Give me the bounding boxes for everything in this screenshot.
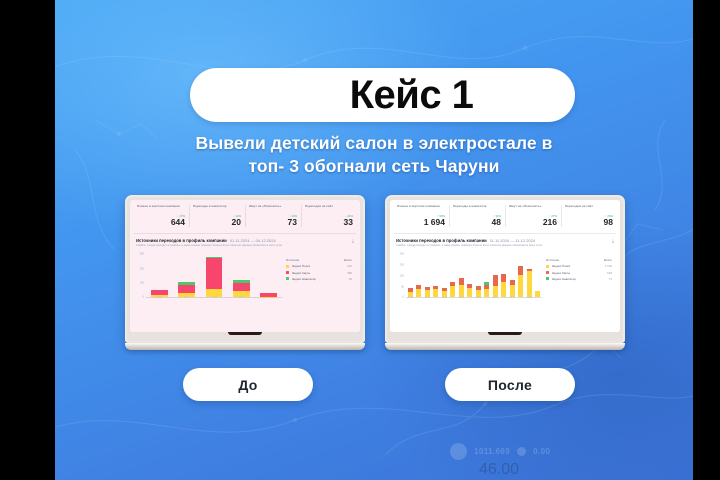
chart-bar[interactable] (466, 254, 475, 297)
chart-bar[interactable] (491, 254, 500, 297)
slide-canvas: 1011.669 0.00 46.00 Кейс 1 Вывели детски… (0, 0, 720, 480)
legend-swatch (286, 271, 289, 274)
chart-legend-after: Источник Всего Яндекс Поиск1 102Яндекс К… (542, 254, 612, 306)
laptop-after-lid: Показы в карточке компании ↑ 53% 1 694 П… (385, 195, 625, 343)
y-axis-after: 200150100500 (398, 254, 405, 297)
y-tick: 200 (400, 253, 404, 256)
chart-bar[interactable] (415, 254, 424, 297)
y-axis-before: 3002001000 (138, 254, 145, 297)
chart-bar[interactable] (534, 254, 543, 297)
chart-bar[interactable] (432, 254, 441, 297)
chart-date-range: 11.11.2024 — 11.12.2024 (490, 238, 535, 243)
laptop-before-screen: Показы в карточке компании ↓ 17% 644 Пер… (130, 200, 360, 332)
kpi-label: Показы в карточке компании (137, 205, 185, 213)
case-title-pill: Кейс 1 (190, 68, 575, 122)
legend-header-total: Всего (344, 258, 352, 262)
chart-header: Источники переходов в профиль компании 0… (136, 238, 354, 243)
chart-title: Источники переходов в профиль компании (136, 238, 227, 243)
chart-bar[interactable] (228, 254, 255, 297)
chart-bar-segment (501, 274, 506, 281)
x-tick (466, 297, 475, 306)
chart-legend-before: Источник Всего Яндекс Поиск212Яндекс Кар… (282, 254, 352, 306)
laptop-after-screen: Показы в карточке компании ↑ 53% 1 694 П… (390, 200, 620, 332)
x-tick (534, 297, 543, 306)
kpi-label: Показы в карточке компании (397, 205, 445, 213)
laptop-before-base (125, 343, 365, 350)
chart-bars-before (146, 254, 282, 297)
chart-bar[interactable] (146, 254, 173, 297)
x-tick: 11.11 (406, 297, 415, 306)
legend-header-source: Источник (286, 258, 299, 262)
chart-section-before: Источники переходов в профиль компании 0… (134, 233, 356, 307)
kpi-value: 1 694 (397, 218, 445, 227)
kpi-label: Переходов на сайт (305, 205, 353, 213)
laptop-before: Показы в карточке компании ↓ 17% 644 Пер… (125, 195, 365, 350)
chart-bar[interactable] (449, 254, 458, 297)
chart-bar-segment (527, 271, 532, 297)
chart-bar-segment (459, 285, 464, 298)
chart-bar[interactable] (440, 254, 449, 297)
subtitle-line-2: топ- 3 обогнали сеть Чаруни (95, 155, 653, 178)
legend-swatch (546, 277, 549, 280)
chart-area-before: 3002001000 01.1108.1115.1122.1129.11 Ист… (136, 254, 354, 306)
legend-series-total: 386 (347, 271, 352, 275)
chart-bar-segment (206, 258, 223, 289)
legend-row[interactable]: Яндекс Навигатор46 (286, 277, 352, 281)
x-tick: 01.12 (491, 297, 500, 306)
kpi-label: Жмут на «Позвонить» (509, 205, 557, 213)
chart-bar-segment (493, 286, 498, 297)
kpi-value: 33 (305, 218, 353, 227)
chart-bar-segment (416, 289, 421, 298)
watermark-label-3: 46.00 (479, 461, 519, 479)
letterbox-right (693, 0, 720, 480)
chart-bar-segment (433, 289, 438, 297)
chart-bar[interactable] (508, 254, 517, 297)
after-button-label: После (488, 377, 532, 393)
legend-row[interactable]: Яндекс Поиск212 (286, 264, 352, 268)
legend-series-name: Яндекс Карты (552, 271, 571, 275)
x-tick: 27.11 (474, 297, 483, 306)
y-tick: 300 (140, 253, 144, 256)
download-icon[interactable]: ⤓ (352, 238, 354, 243)
watermark-dot-small (517, 447, 526, 456)
laptop-after: Показы в карточке компании ↑ 53% 1 694 П… (385, 195, 625, 350)
before-button[interactable]: До (183, 368, 313, 401)
x-tick: 23.11 (457, 297, 466, 306)
chart-bar-segment (233, 283, 250, 292)
chart-bars-after (406, 254, 542, 297)
y-tick: 50 (401, 285, 404, 288)
y-tick: 100 (400, 274, 404, 277)
dashboard-before: Показы в карточке компании ↓ 17% 644 Пер… (130, 200, 360, 332)
chart-area-after: 200150100500 11.1115.1119.1123.1127.1101… (396, 254, 614, 306)
legend-row[interactable]: Яндекс Карты518 (546, 271, 612, 275)
legend-series-name: Яндекс Навигатор (552, 277, 576, 281)
chart-bar[interactable] (474, 254, 483, 297)
kpi-card[interactable]: Переходов на сайт ↓ 21% 33 (301, 205, 356, 227)
kpi-value: 20 (193, 218, 241, 227)
kpi-card[interactable]: Жмут на «Позвонить» ↓ 44% 73 (245, 205, 300, 227)
slide-background: 1011.669 0.00 46.00 Кейс 1 Вывели детски… (55, 0, 693, 480)
chart-bar[interactable] (173, 254, 200, 297)
kpi-value: 73 (249, 218, 297, 227)
kpi-card[interactable]: Переходы в навигатор ↓ 12% 20 (189, 205, 244, 227)
chart-bar-segment (178, 285, 195, 292)
chart-bar-segment (425, 290, 430, 298)
x-tick: 15.11 (200, 297, 227, 306)
kpi-label: Жмут на «Позвонить» (249, 205, 297, 213)
legend-header: Источник Всего (546, 258, 612, 262)
chart-bar-segment (518, 266, 523, 275)
legend-row[interactable]: Яндекс Поиск1 102 (546, 264, 612, 268)
page-title: Кейс 1 (292, 75, 474, 115)
kpi-row-before: Показы в карточке компании ↓ 17% 644 Пер… (130, 200, 360, 231)
y-tick: 0 (403, 296, 404, 299)
chart-bar-segment (484, 289, 489, 298)
legend-series-name: Яндекс Навигатор (292, 277, 316, 281)
legend-header: Источник Всего (286, 258, 352, 262)
x-tick (517, 297, 526, 306)
chart-bar-segment (510, 285, 515, 298)
letterbox-left (0, 0, 55, 480)
kpi-value: 98 (565, 218, 613, 227)
legend-series-name: Яндекс Поиск (292, 264, 311, 268)
chart-bar-segment (206, 289, 223, 298)
chart-bar-segment (467, 288, 472, 298)
legend-series-total: 74 (609, 277, 612, 281)
download-icon[interactable]: ⤓ (612, 238, 614, 243)
laptop-after-base (385, 343, 625, 350)
legend-series-total: 212 (347, 264, 352, 268)
subtitle-line-1: Вывели детский салон в электростале в (195, 133, 552, 153)
chart-section-after: Источники переходов в профиль компании 1… (394, 233, 616, 307)
legend-rows-after: Яндекс Поиск1 102Яндекс Карты518Яндекс Н… (546, 264, 612, 280)
legend-swatch (546, 271, 549, 274)
kpi-value: 216 (509, 218, 557, 227)
kpi-label: Переходов на сайт (565, 205, 613, 213)
chart-header: Источники переходов в профиль компании 1… (396, 238, 614, 243)
y-tick: 200 (140, 267, 144, 270)
before-button-label: До (238, 377, 257, 393)
chart-plot: 200150100500 11.1115.1119.1123.1127.1101… (398, 254, 542, 306)
chart-bar-segment (518, 275, 523, 298)
chart-title: Источники переходов в профиль компании (396, 238, 487, 243)
legend-rows-before: Яндекс Поиск212Яндекс Карты386Яндекс Нав… (286, 264, 352, 280)
y-tick: 0 (143, 296, 144, 299)
legend-series-total: 46 (349, 277, 352, 281)
x-tick: 09.12 (525, 297, 534, 306)
chart-bar[interactable] (500, 254, 509, 297)
x-tick (483, 297, 492, 306)
chart-bar[interactable] (200, 254, 227, 297)
legend-header-source: Источник (546, 258, 559, 262)
legend-row[interactable]: Яндекс Карты386 (286, 271, 352, 275)
x-axis-after: 11.1115.1119.1123.1127.1101.1205.1209.12 (406, 297, 542, 306)
y-tick: 150 (400, 264, 404, 267)
chart-description: Узнайте, откуда приходят в профиль, и ка… (396, 244, 614, 251)
chart-bar-segment (493, 275, 498, 286)
subtitle: Вывели детский салон в электростале в то… (95, 132, 653, 178)
legend-series-total: 1 102 (605, 264, 612, 268)
x-tick: 19.11 (440, 297, 449, 306)
x-tick: 01.11 (146, 297, 173, 306)
x-tick (500, 297, 509, 306)
laptop-after-notch (488, 332, 522, 335)
chart-bar[interactable] (525, 254, 534, 297)
kpi-label: Переходы в навигатор (453, 205, 501, 213)
kpi-label: Переходы в навигатор (193, 205, 241, 213)
laptop-before-notch (228, 332, 262, 335)
legend-series-total: 518 (607, 271, 612, 275)
chart-bar-segment (501, 282, 506, 298)
kpi-card[interactable]: Жмут на «Позвонить» ↑ 27% 216 (505, 205, 560, 227)
kpi-value: 644 (137, 218, 185, 227)
x-tick (449, 297, 458, 306)
chart-date-range: 01.11.2024 — 04.12.2024 (230, 238, 276, 243)
x-tick: 22.11 (228, 297, 255, 306)
watermark-primary: 1011.669 0.00 (450, 443, 550, 460)
chart-bar[interactable] (255, 254, 282, 297)
x-tick: 05.12 (508, 297, 517, 306)
chart-bar[interactable] (517, 254, 526, 297)
laptop-before-lid: Показы в карточке компании ↓ 17% 644 Пер… (125, 195, 365, 343)
chart-plot: 3002001000 01.1108.1115.1122.1129.11 (138, 254, 282, 306)
chart-bar[interactable] (483, 254, 492, 297)
kpi-card[interactable]: Переходов на сайт ↑ 26% 98 (561, 205, 616, 227)
kpi-row-after: Показы в карточке компании ↑ 53% 1 694 П… (390, 200, 620, 231)
x-tick: 15.11 (423, 297, 432, 306)
chart-bar-segment (476, 290, 481, 298)
legend-swatch (286, 265, 289, 268)
legend-swatch (286, 277, 289, 280)
x-axis-before: 01.1108.1115.1122.1129.11 (146, 297, 282, 306)
chart-bar[interactable] (423, 254, 432, 297)
chart-bar[interactable] (457, 254, 466, 297)
watermark-label-1: 1011.669 (474, 447, 510, 456)
chart-bar[interactable] (406, 254, 415, 297)
kpi-card[interactable]: Показы в карточке компании ↑ 53% 1 694 (394, 205, 448, 227)
x-tick: 29.11 (255, 297, 282, 306)
watermark-dot (450, 443, 467, 460)
legend-swatch (546, 265, 549, 268)
x-tick (432, 297, 441, 306)
legend-row[interactable]: Яндекс Навигатор74 (546, 277, 612, 281)
chart-description: Узнайте, откуда приходят в профиль, и ка… (136, 244, 354, 251)
watermark-label-2: 0.00 (533, 447, 550, 456)
watermark-secondary: 46.00 (473, 461, 519, 479)
legend-header-total: Всего (604, 258, 612, 262)
kpi-card[interactable]: Показы в карточке компании ↓ 17% 644 (134, 205, 188, 227)
legend-series-name: Яндекс Поиск (552, 264, 571, 268)
after-button[interactable]: После (445, 368, 575, 401)
x-tick: 08.11 (173, 297, 200, 306)
dashboard-after: Показы в карточке компании ↑ 53% 1 694 П… (390, 200, 620, 332)
x-tick (415, 297, 424, 306)
chart-bar-segment (450, 286, 455, 297)
kpi-card[interactable]: Переходы в навигатор ↑ 31% 48 (449, 205, 504, 227)
legend-series-name: Яндекс Карты (292, 271, 311, 275)
y-tick: 100 (140, 282, 144, 285)
kpi-value: 48 (453, 218, 501, 227)
